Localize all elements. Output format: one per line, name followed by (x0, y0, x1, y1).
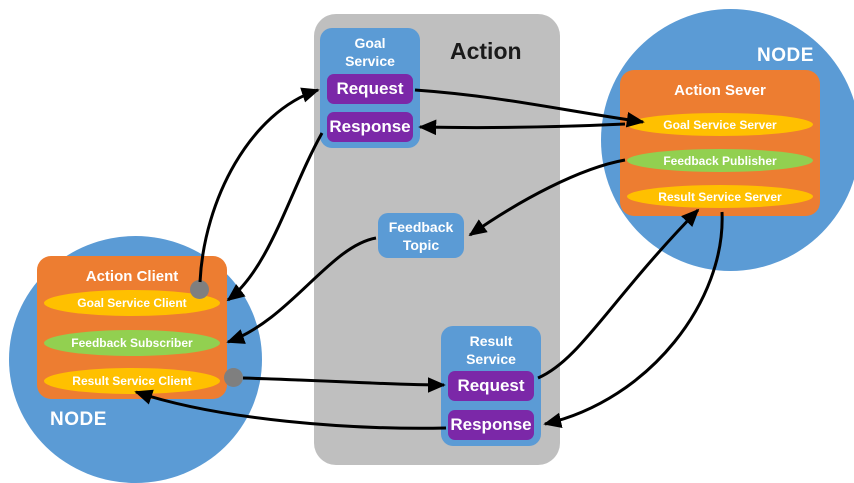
arrow-response-to-client-goal (228, 133, 322, 300)
server-entry-feedback-publisher[interactable]: Feedback Publisher (627, 149, 813, 172)
diagram-canvas: Action NODE Action Client Goal Service C… (0, 0, 854, 480)
result-service-title-line1: Result (441, 332, 541, 350)
client-node-label: NODE (50, 409, 107, 431)
goal-service-response[interactable]: Response (327, 112, 413, 142)
result-service-title-line2: Service (441, 350, 541, 368)
client-entry-result-service-client[interactable]: Result Service Client (44, 368, 220, 394)
client-entry-feedback-subscriber[interactable]: Feedback Subscriber (44, 330, 220, 356)
server-entry-goal-service-server[interactable]: Goal Service Server (627, 113, 813, 136)
client-result-connector-dot (224, 368, 243, 387)
result-service-request[interactable]: Request (448, 371, 534, 401)
action-server-title: Action Sever (620, 82, 820, 99)
goal-service-title-line2: Service (320, 52, 420, 70)
feedback-topic-line1: Feedback (389, 218, 454, 236)
goal-service-title: Goal Service (320, 34, 420, 70)
server-entry-result-service-server[interactable]: Result Service Server (627, 185, 813, 208)
client-goal-connector-dot (190, 280, 209, 299)
feedback-topic-box[interactable]: Feedback Topic (378, 213, 464, 258)
goal-service-title-line1: Goal (320, 34, 420, 52)
action-panel-title: Action (450, 38, 522, 65)
server-node-label: NODE (757, 45, 814, 67)
result-service-title: Result Service (441, 332, 541, 368)
arrow-client-goal-to-request (200, 90, 318, 282)
result-service-response[interactable]: Response (448, 410, 534, 440)
feedback-topic-line2: Topic (389, 236, 454, 254)
goal-service-request[interactable]: Request (327, 74, 413, 104)
